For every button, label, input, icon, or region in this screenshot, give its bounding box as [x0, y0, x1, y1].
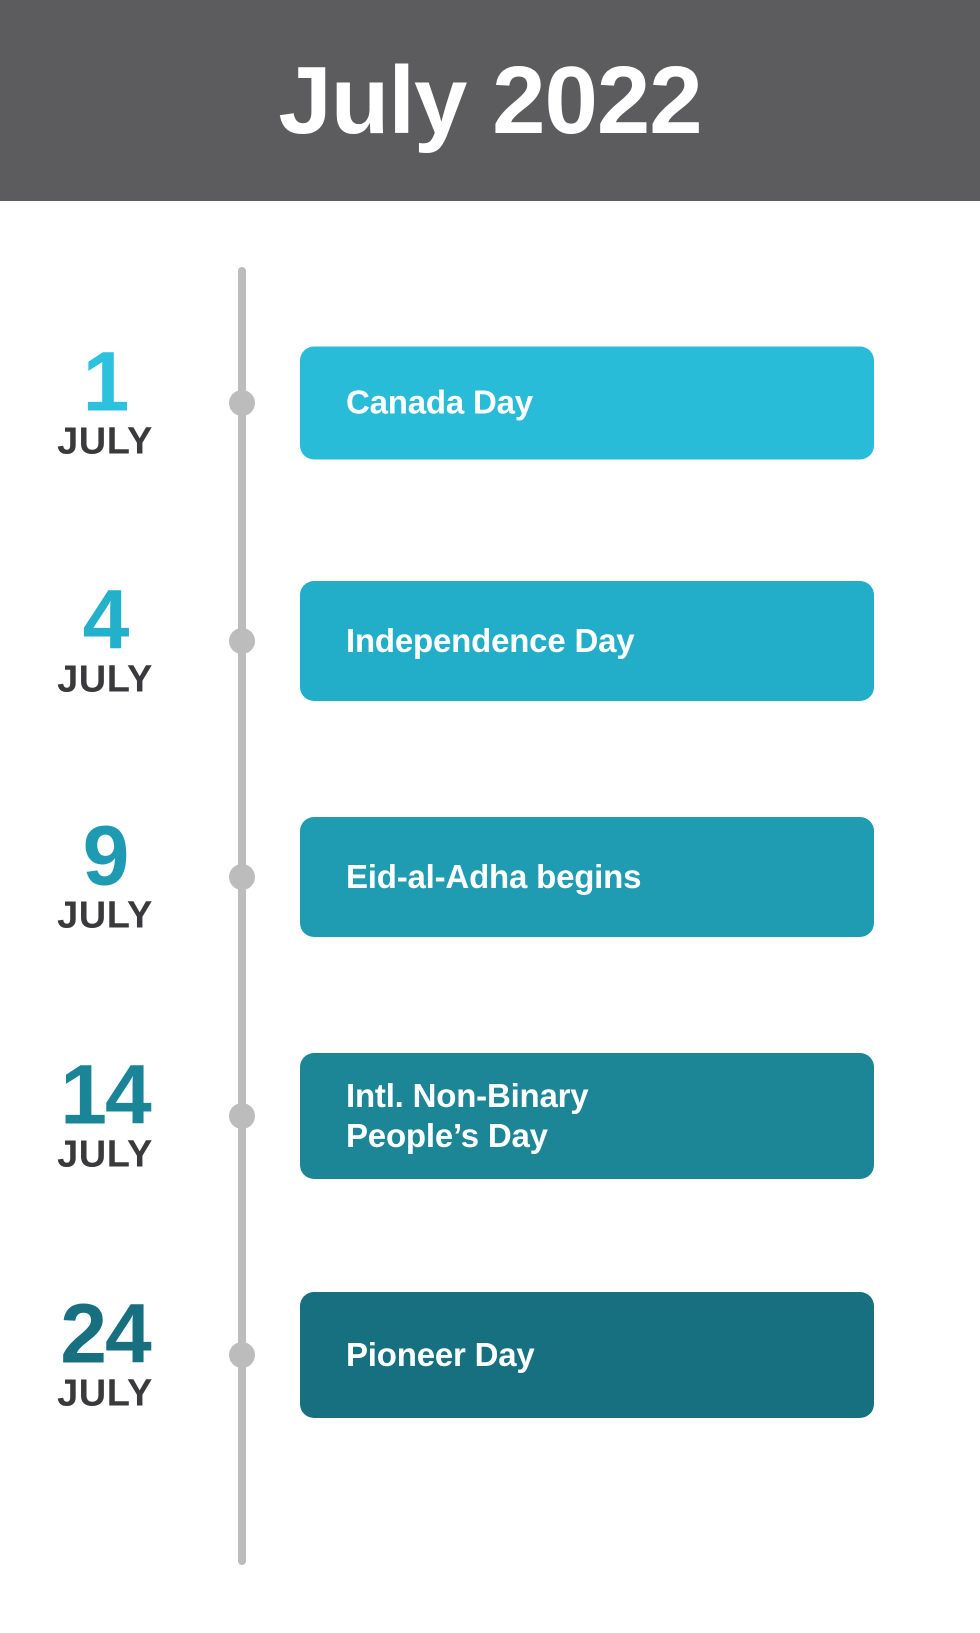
date-day-number: 4: [0, 581, 210, 658]
date-month-label: JULY: [0, 897, 210, 937]
date-block: 4JULY: [0, 581, 210, 700]
page-title: July 2022: [278, 53, 701, 149]
date-day-number: 1: [0, 343, 210, 420]
timeline-node-dot: [229, 628, 255, 654]
timeline-node-dot: [229, 1342, 255, 1368]
page-header: July 2022: [0, 0, 980, 201]
event-card[interactable]: Intl. Non-Binary People’s Day: [300, 1053, 874, 1179]
event-card[interactable]: Eid-al-Adha begins: [300, 817, 874, 937]
date-month-label: JULY: [0, 423, 210, 463]
date-month-label: JULY: [0, 1136, 210, 1176]
timeline: 1JULYCanada Day4JULYIndependence Day9JUL…: [0, 201, 980, 1633]
date-day-number: 24: [0, 1295, 210, 1372]
event-card[interactable]: Pioneer Day: [300, 1292, 874, 1418]
date-day-number: 14: [0, 1056, 210, 1133]
event-label: Canada Day: [346, 383, 533, 423]
event-label: Intl. Non-Binary People’s Day: [346, 1076, 588, 1157]
timeline-node-dot: [229, 1103, 255, 1129]
date-month-label: JULY: [0, 661, 210, 701]
event-card[interactable]: Canada Day: [300, 347, 874, 460]
timeline-node-dot: [229, 864, 255, 890]
event-label: Eid-al-Adha begins: [346, 857, 641, 897]
date-block: 14JULY: [0, 1056, 210, 1175]
date-month-label: JULY: [0, 1375, 210, 1415]
timeline-node-dot: [229, 390, 255, 416]
date-block: 24JULY: [0, 1295, 210, 1414]
timeline-axis: [238, 267, 246, 1565]
date-block: 1JULY: [0, 343, 210, 462]
date-block: 9JULY: [0, 817, 210, 936]
date-day-number: 9: [0, 817, 210, 894]
event-label: Independence Day: [346, 621, 634, 661]
event-card[interactable]: Independence Day: [300, 581, 874, 701]
event-label: Pioneer Day: [346, 1335, 535, 1375]
